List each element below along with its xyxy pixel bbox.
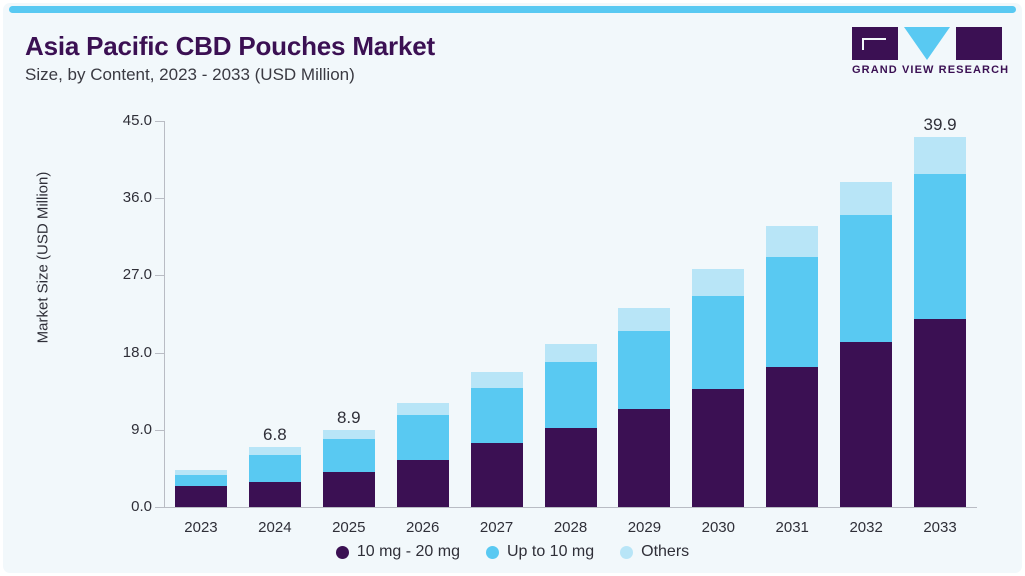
x-axis-tick-label: 2030 [678, 519, 758, 536]
bar-column[interactable] [766, 226, 818, 507]
bar-segment[interactable] [692, 269, 744, 296]
bar-segment[interactable] [175, 486, 227, 507]
legend-label: 10 mg - 20 mg [357, 543, 460, 561]
y-axis-tick-label: 27.0 [92, 266, 152, 283]
bar-segment[interactable] [692, 389, 744, 507]
y-axis-tick-mark [155, 353, 164, 354]
bar-segment[interactable] [249, 455, 301, 482]
bar-column[interactable] [840, 182, 892, 507]
bar-segment[interactable] [840, 215, 892, 342]
x-axis-tick-label: 2029 [604, 519, 684, 536]
chart-card: Asia Pacific CBD Pouches Market Size, by… [0, 0, 1025, 576]
y-axis-tick-mark [155, 198, 164, 199]
bar-column[interactable] [692, 269, 744, 507]
bar-segment[interactable] [323, 439, 375, 472]
bar-segment[interactable] [914, 319, 966, 507]
bar-segment[interactable] [840, 182, 892, 215]
bar-segment[interactable] [175, 470, 227, 475]
legend-color-dot-icon [336, 546, 349, 559]
bar-segment[interactable] [471, 372, 523, 387]
y-axis-tick-label: 0.0 [92, 498, 152, 515]
x-axis-tick-label: 2027 [457, 519, 537, 536]
bar-column[interactable] [545, 344, 597, 507]
bar-segment[interactable] [545, 344, 597, 362]
y-axis-line [164, 121, 165, 507]
legend-label: Others [641, 543, 689, 561]
bar-segment[interactable] [397, 415, 449, 460]
x-axis-line [164, 507, 977, 508]
x-axis-tick-label: 2025 [309, 519, 389, 536]
y-axis-tick-label: 18.0 [92, 344, 152, 361]
bar-segment[interactable] [766, 226, 818, 257]
x-axis-tick-label: 2032 [826, 519, 906, 536]
bar-segment[interactable] [618, 331, 670, 409]
bar-segment[interactable] [323, 472, 375, 507]
legend-item[interactable]: Others [620, 543, 689, 561]
bar-column[interactable] [397, 403, 449, 507]
bar-chart-plot: Market Size (USD Million) 0.09.018.027.0… [9, 13, 1022, 573]
legend-item[interactable]: Up to 10 mg [486, 543, 594, 561]
y-axis-tick-mark [155, 430, 164, 431]
bar-segment[interactable] [471, 443, 523, 507]
x-axis-tick-label: 2023 [161, 519, 241, 536]
chart-inner-panel: Asia Pacific CBD Pouches Market Size, by… [9, 13, 1016, 567]
bar-segment[interactable] [692, 296, 744, 389]
bar-segment[interactable] [618, 308, 670, 331]
bar-segment[interactable] [840, 342, 892, 507]
bar-column[interactable] [249, 447, 301, 507]
x-axis-tick-label: 2031 [752, 519, 832, 536]
legend-label: Up to 10 mg [507, 543, 594, 561]
bar-segment[interactable] [545, 428, 597, 507]
x-axis-tick-label: 2024 [235, 519, 315, 536]
bar-segment[interactable] [249, 447, 301, 455]
bar-value-label: 8.9 [309, 408, 389, 428]
bar-segment[interactable] [323, 430, 375, 439]
bar-segment[interactable] [397, 460, 449, 507]
accent-top-bar [9, 6, 1016, 13]
bar-segment[interactable] [766, 367, 818, 507]
y-axis-title: Market Size (USD Million) [35, 128, 52, 388]
bar-segment[interactable] [249, 482, 301, 507]
bar-segment[interactable] [175, 475, 227, 486]
bar-column[interactable] [471, 372, 523, 507]
bar-value-label: 6.8 [235, 425, 315, 445]
bar-column[interactable] [175, 470, 227, 507]
bar-column[interactable] [323, 430, 375, 507]
x-axis-tick-label: 2026 [383, 519, 463, 536]
bar-segment[interactable] [914, 137, 966, 174]
bar-column[interactable] [618, 308, 670, 507]
x-axis-tick-label: 2028 [531, 519, 611, 536]
y-axis-tick-label: 9.0 [92, 421, 152, 438]
bar-segment[interactable] [618, 409, 670, 507]
legend-color-dot-icon [486, 546, 499, 559]
bar-segment[interactable] [397, 403, 449, 415]
bar-segment[interactable] [766, 257, 818, 368]
y-axis-tick-mark [155, 507, 164, 508]
bar-segment[interactable] [545, 362, 597, 428]
y-axis-tick-label: 36.0 [92, 189, 152, 206]
bar-segment[interactable] [471, 388, 523, 443]
bar-segment[interactable] [914, 174, 966, 319]
legend-color-dot-icon [620, 546, 633, 559]
bar-column[interactable] [914, 137, 966, 507]
y-axis-tick-label: 45.0 [92, 112, 152, 129]
y-axis-tick-mark [155, 121, 164, 122]
legend-item[interactable]: 10 mg - 20 mg [336, 543, 460, 561]
chart-legend: 10 mg - 20 mgUp to 10 mgOthers [9, 543, 1016, 561]
bar-value-label: 39.9 [900, 115, 980, 135]
x-axis-tick-label: 2033 [900, 519, 980, 536]
y-axis-tick-mark [155, 275, 164, 276]
